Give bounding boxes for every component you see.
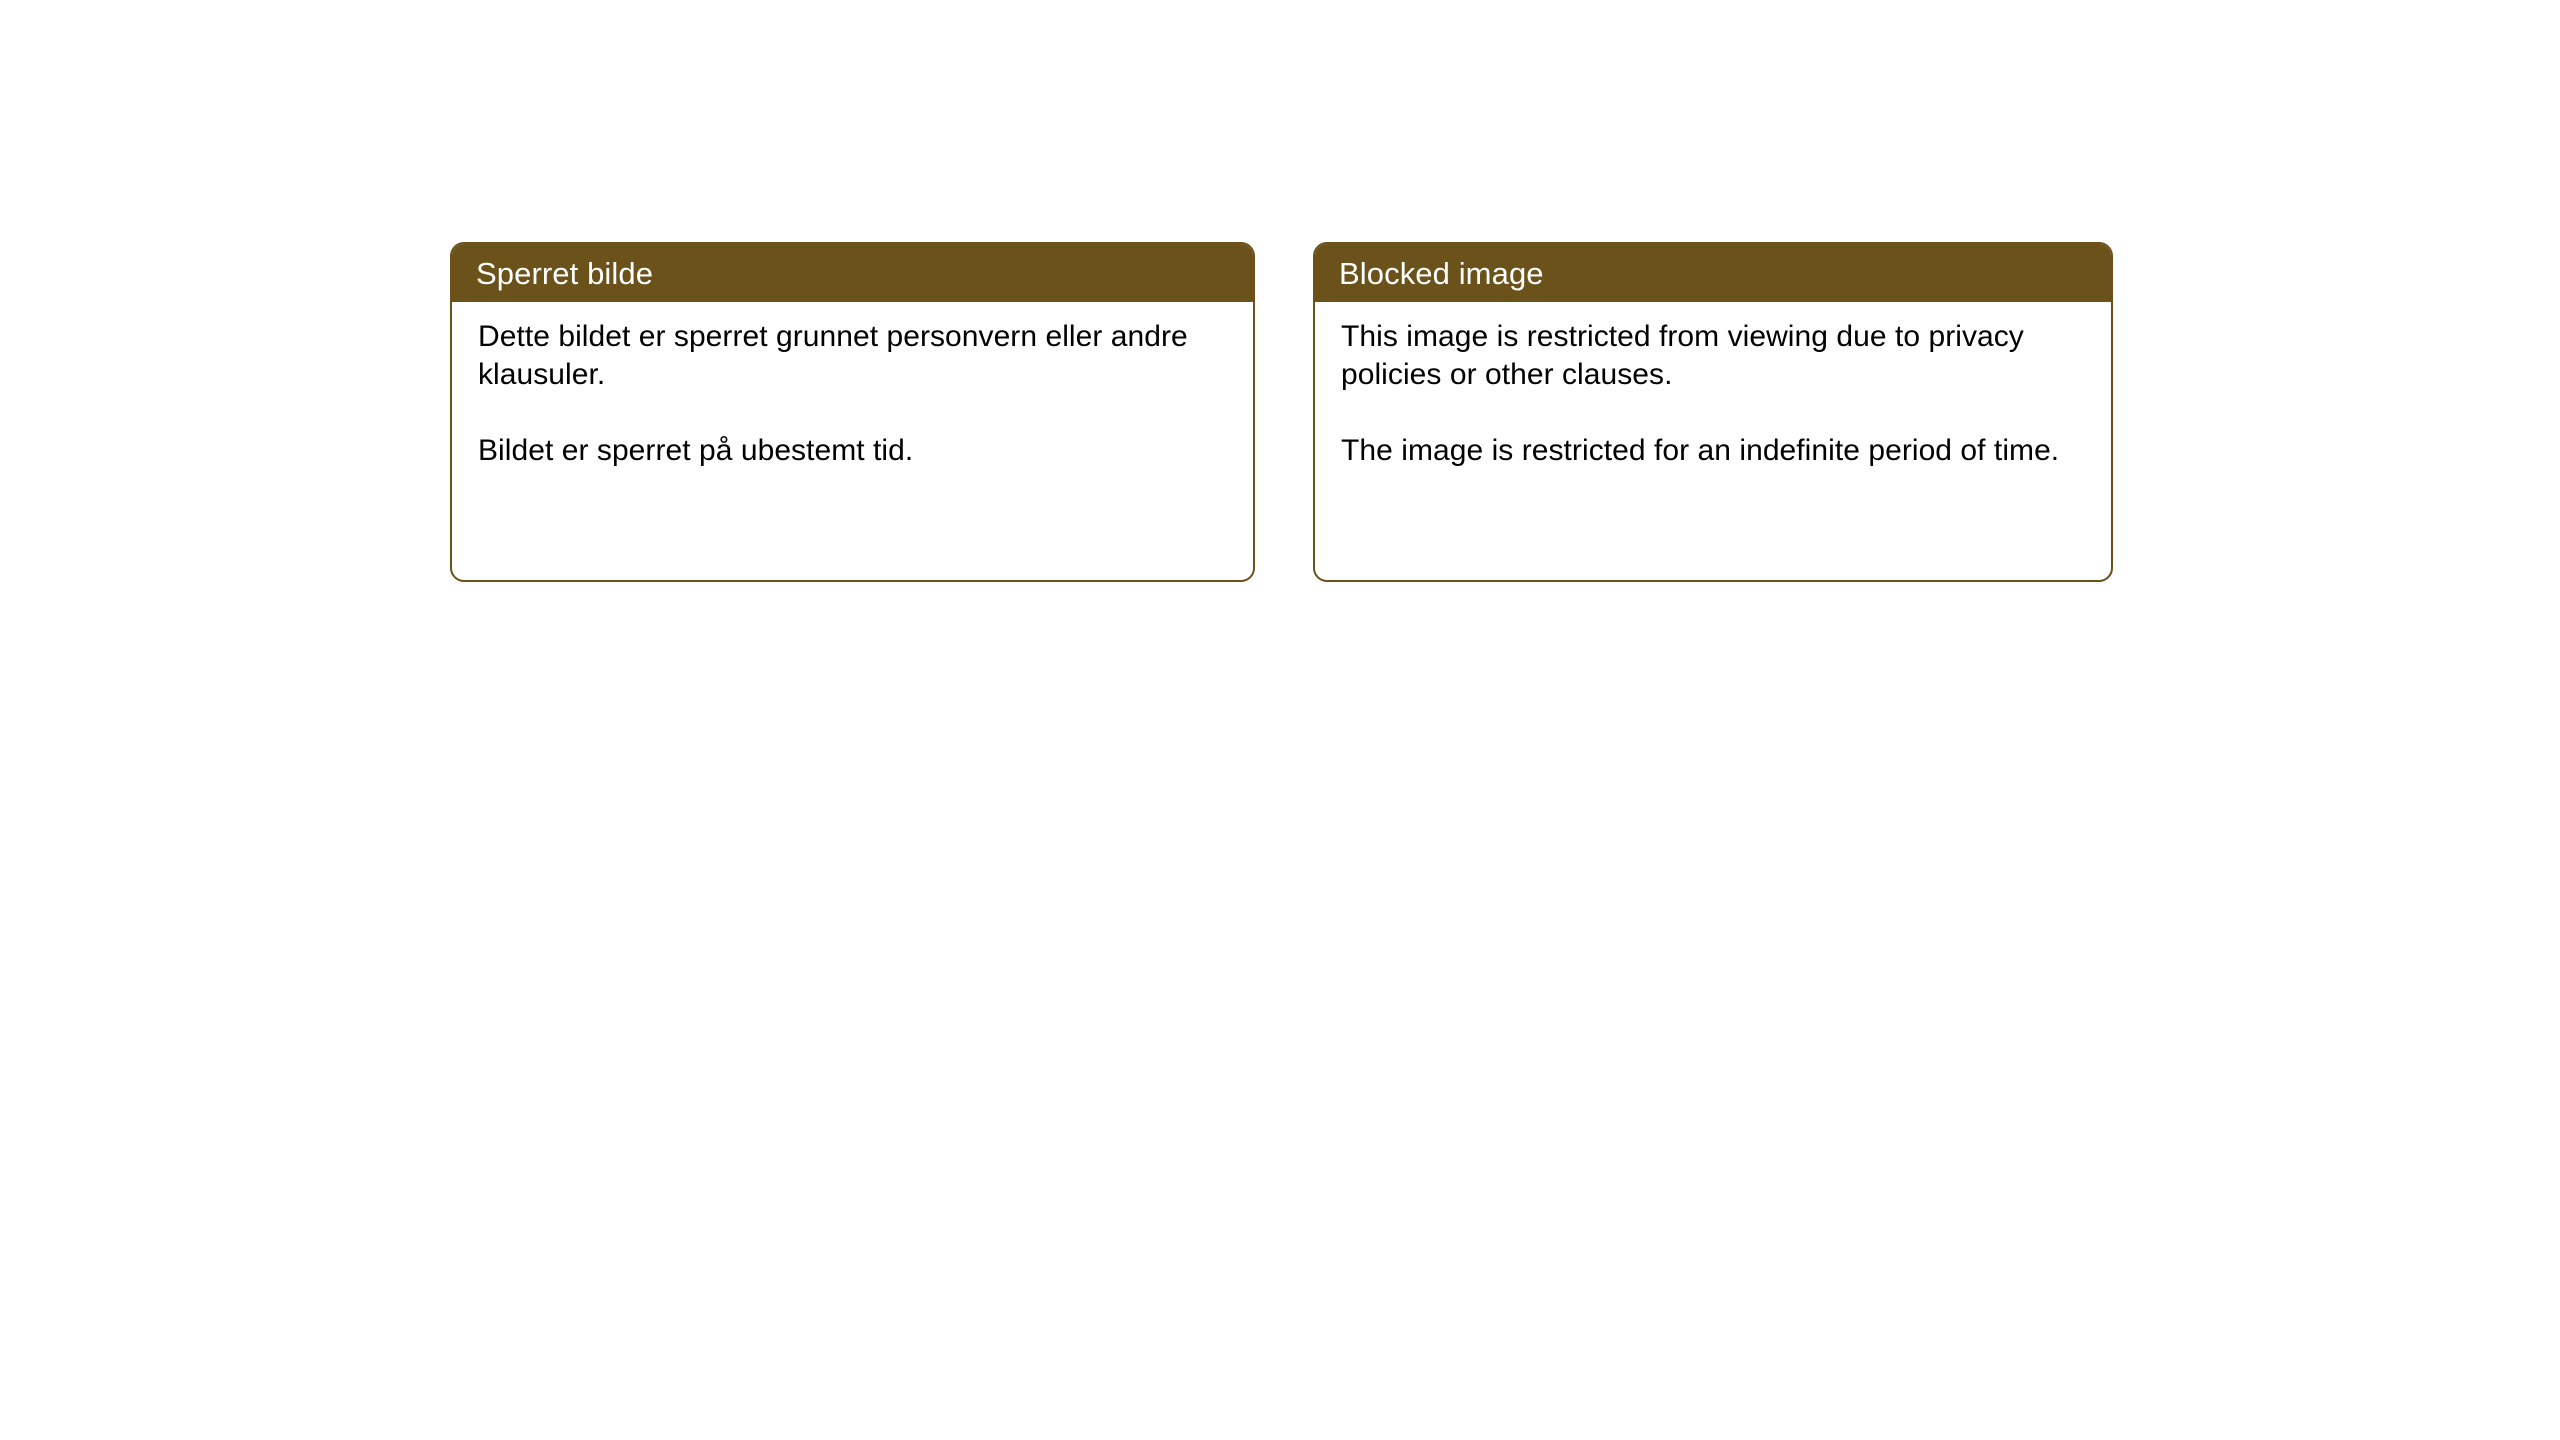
blocked-image-card-no: Sperret bilde Dette bildet er sperret gr…: [450, 242, 1255, 582]
card-header-no: Sperret bilde: [452, 244, 1253, 302]
card-title-no: Sperret bilde: [476, 258, 653, 289]
page-canvas: Sperret bilde Dette bildet er sperret gr…: [0, 0, 2560, 1440]
card-body-no: Dette bildet er sperret grunnet personve…: [452, 302, 1253, 490]
card-paragraph-no-2: Bildet er sperret på ubestemt tid.: [478, 432, 1198, 470]
card-title-en: Blocked image: [1339, 258, 1544, 289]
card-paragraph-en-1: This image is restricted from viewing du…: [1341, 318, 2085, 394]
card-paragraph-no-1: Dette bildet er sperret grunnet personve…: [478, 318, 1198, 394]
card-paragraph-en-2: The image is restricted for an indefinit…: [1341, 432, 2085, 470]
blocked-image-card-en: Blocked image This image is restricted f…: [1313, 242, 2113, 582]
card-body-en: This image is restricted from viewing du…: [1315, 302, 2111, 490]
card-header-en: Blocked image: [1315, 244, 2111, 302]
